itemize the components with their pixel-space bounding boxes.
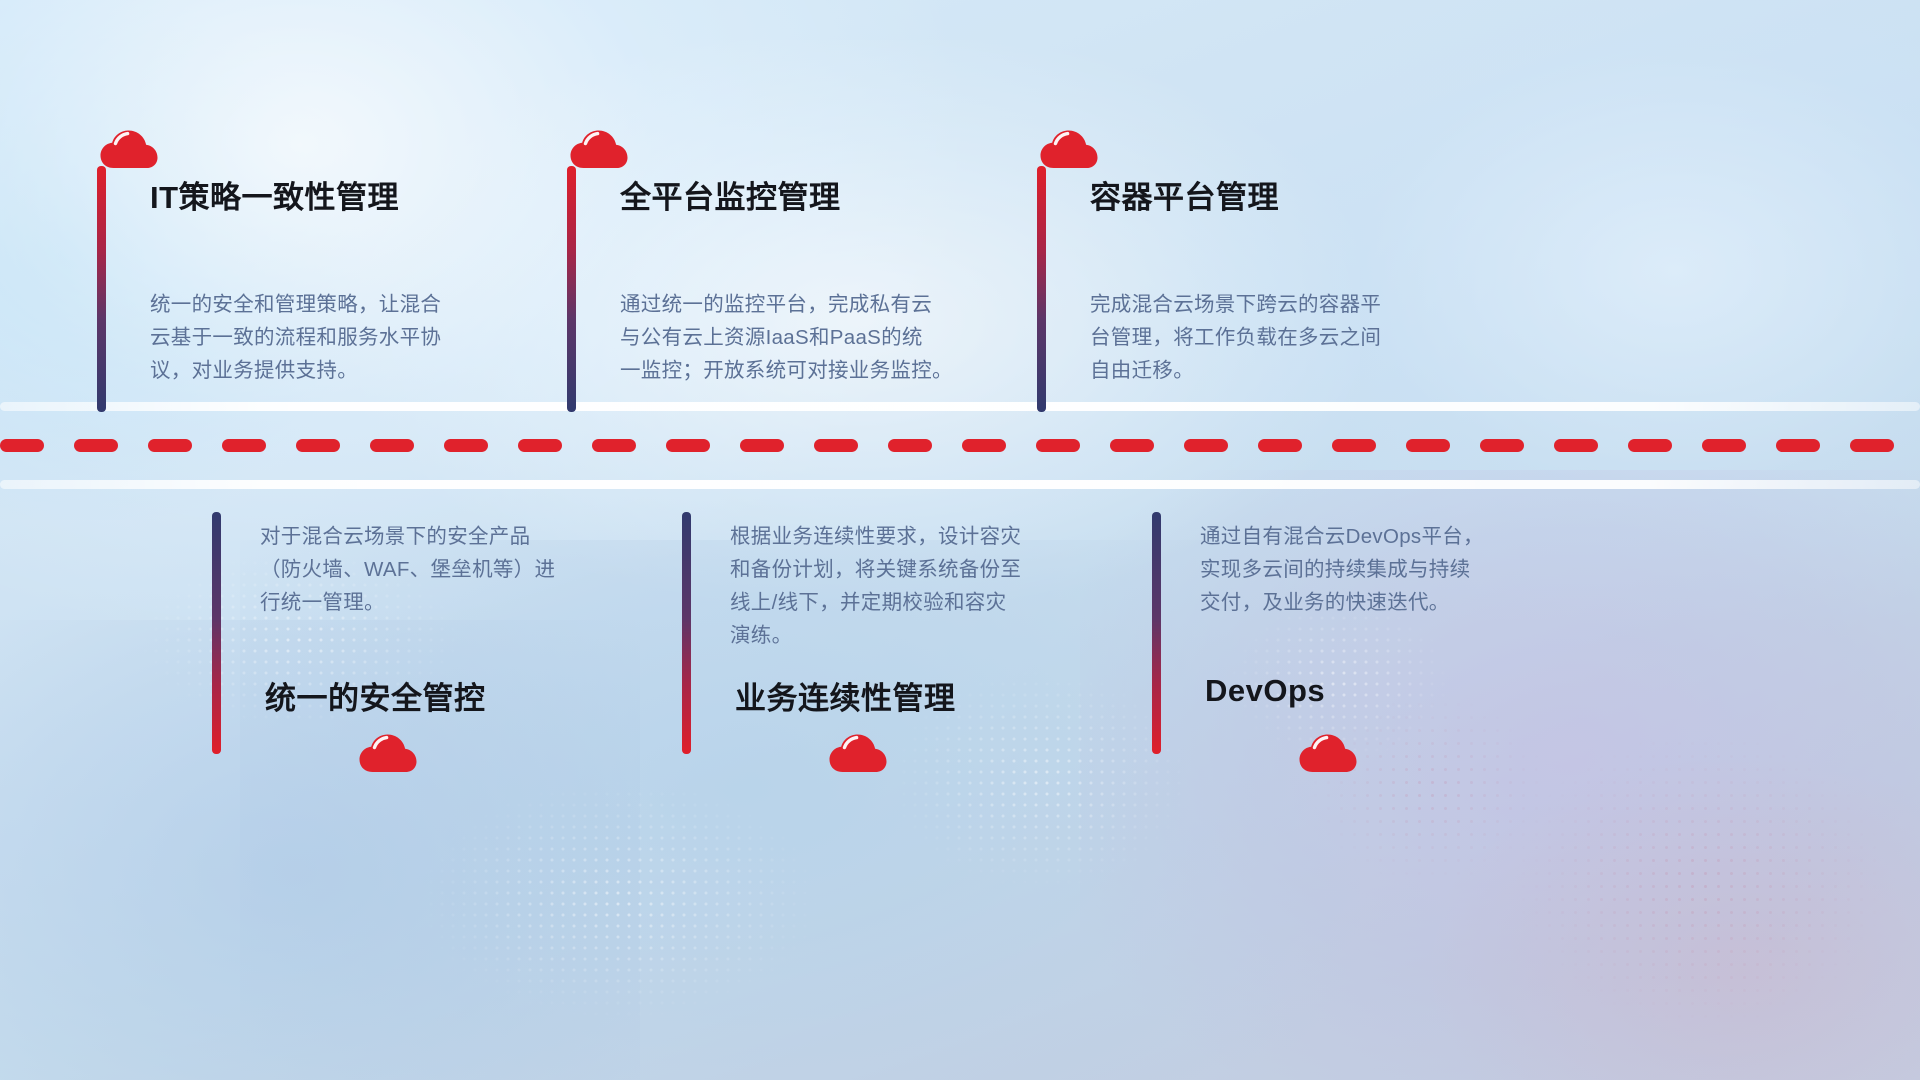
bottom-heading-3: DevOps [1205, 673, 1325, 709]
stem-connector [1037, 166, 1046, 412]
stem-connector [97, 166, 106, 412]
body-line: 与公有云上资源IaaS和PaaS的统 [620, 321, 1030, 354]
timeline-dash [740, 439, 784, 452]
stem-connector [1152, 512, 1161, 754]
body-line: 自由迁移。 [1090, 354, 1480, 387]
top-body-1: 统一的安全和管理策略，让混合 云基于一致的流程和服务水平协 议，对业务提供支持。 [150, 288, 540, 387]
timeline-dash [888, 439, 932, 452]
timeline-dash [666, 439, 710, 452]
timeline-dash [814, 439, 858, 452]
timeline-dash [370, 439, 414, 452]
cloud-icon [570, 130, 628, 170]
timeline-dash [1850, 439, 1894, 452]
top-body-2: 通过统一的监控平台，完成私有云 与公有云上资源IaaS和PaaS的统 一监控；开… [620, 288, 1030, 387]
timeline-dash [296, 439, 340, 452]
bottom-body-3: 通过自有混合云DevOps平台， 实现多云间的持续集成与持续 交付，及业务的快速… [1200, 520, 1600, 619]
stem-connector [682, 512, 691, 754]
timeline-dashed-axis [0, 438, 1920, 452]
timeline-dash [962, 439, 1006, 452]
stem-connector [212, 512, 221, 754]
top-body-3: 完成混合云场景下跨云的容器平 台管理，将工作负载在多云之间 自由迁移。 [1090, 288, 1480, 387]
timeline-rail-top [0, 402, 1920, 411]
timeline-dash [1702, 439, 1746, 452]
timeline-dash [1480, 439, 1524, 452]
timeline-rail-bottom [0, 480, 1920, 489]
bottom-body-1: 对于混合云场景下的安全产品 （防火墙、WAF、堡垒机等）进 行统一管理。 [260, 520, 660, 619]
timeline-dash [1258, 439, 1302, 452]
timeline-dash [1776, 439, 1820, 452]
body-line: 线上/线下，并定期校验和容灾 [730, 586, 1130, 619]
cloud-icon [1040, 130, 1098, 170]
timeline-dash [1110, 439, 1154, 452]
bottom-body-2: 根据业务连续性要求，设计容灾 和备份计划，将关键系统备份至 线上/线下，并定期校… [730, 520, 1130, 652]
body-line: （防火墙、WAF、堡垒机等）进 [260, 553, 660, 586]
body-line: 一监控；开放系统可对接业务监控。 [620, 354, 1030, 387]
body-line: 演练。 [730, 619, 1130, 652]
timeline-dash [0, 439, 44, 452]
cloud-icon [100, 130, 158, 170]
body-line: 行统一管理。 [260, 586, 660, 619]
body-line: 完成混合云场景下跨云的容器平 [1090, 288, 1480, 321]
infographic-canvas: IT策略一致性管理 统一的安全和管理策略，让混合 云基于一致的流程和服务水平协 … [0, 0, 1920, 1080]
top-heading-2: 全平台监控管理 [620, 172, 841, 217]
stem-connector [567, 166, 576, 412]
body-line: 根据业务连续性要求，设计容灾 [730, 520, 1130, 553]
timeline-dash [74, 439, 118, 452]
bottom-heading-1: 统一的安全管控 [265, 673, 486, 718]
timeline-dash [222, 439, 266, 452]
cloud-icon [829, 734, 887, 774]
body-line: 统一的安全和管理策略，让混合 [150, 288, 540, 321]
body-line: 实现多云间的持续集成与持续 [1200, 553, 1600, 586]
body-line: 云基于一致的流程和服务水平协 [150, 321, 540, 354]
body-line: 通过统一的监控平台，完成私有云 [620, 288, 1030, 321]
body-line: 和备份计划，将关键系统备份至 [730, 553, 1130, 586]
timeline-dash [1184, 439, 1228, 452]
cloud-icon [359, 734, 417, 774]
timeline-dash [148, 439, 192, 452]
body-line: 议，对业务提供支持。 [150, 354, 540, 387]
body-line: 对于混合云场景下的安全产品 [260, 520, 660, 553]
timeline-dash [518, 439, 562, 452]
bottom-heading-2: 业务连续性管理 [735, 673, 956, 718]
top-heading-1: IT策略一致性管理 [150, 172, 399, 217]
top-heading-3: 容器平台管理 [1090, 172, 1279, 217]
body-line: 交付，及业务的快速迭代。 [1200, 586, 1600, 619]
timeline-dash [1036, 439, 1080, 452]
timeline-dash [1332, 439, 1376, 452]
body-line: 台管理，将工作负载在多云之间 [1090, 321, 1480, 354]
timeline-dash [1554, 439, 1598, 452]
timeline-dash [1406, 439, 1450, 452]
timeline-dash [1628, 439, 1672, 452]
timeline-dash [444, 439, 488, 452]
cloud-icon [1299, 734, 1357, 774]
timeline-dash [592, 439, 636, 452]
body-line: 通过自有混合云DevOps平台， [1200, 520, 1600, 553]
